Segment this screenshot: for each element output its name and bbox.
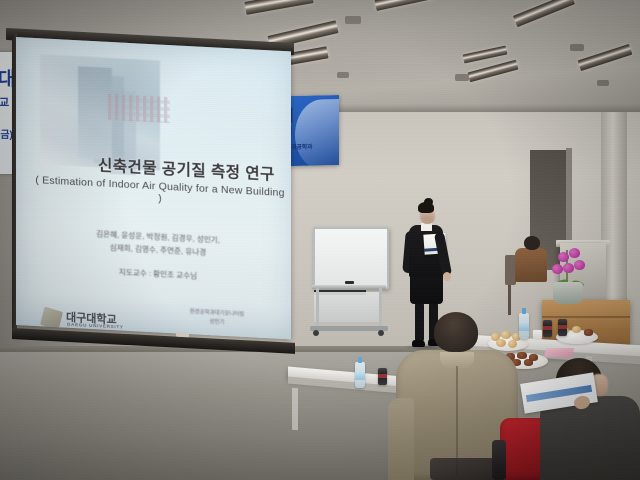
food-meat (524, 359, 533, 366)
water-bottle-label (355, 371, 365, 380)
whiteboard-caster (313, 330, 319, 336)
projection-screen: 신축건물 공기질 측정 연구 ( Estimation of Indoor Ai… (6, 28, 294, 328)
ceiling-vent (570, 44, 584, 51)
ceiling-vent (345, 16, 361, 24)
whiteboard-marker (345, 281, 354, 284)
auditorium-seat-shadow (430, 458, 500, 480)
ceiling-light (463, 46, 508, 64)
whiteboard (313, 227, 389, 289)
ceiling-light (244, 0, 313, 15)
logo-diamond-icon (40, 306, 63, 330)
slide-footnote: 환경공학과대기모니터링 성민기 (157, 306, 277, 331)
water-bottle-label (519, 322, 529, 331)
presenter-left-leg (415, 302, 424, 342)
table-leg (292, 388, 298, 430)
orchid-bloom (552, 264, 563, 274)
paper-cup (533, 330, 542, 340)
presenter-collar (421, 223, 432, 231)
whiteboard-caster (378, 330, 384, 336)
food-bread (496, 339, 506, 347)
drink-can-label (378, 374, 387, 378)
slide-mosaic-graphic (108, 94, 170, 123)
whiteboard-lower-panel (314, 292, 380, 322)
seated-person-brown-body (515, 248, 547, 282)
slide-advisor: 지도교수 : 황민조 교수님 (42, 262, 274, 285)
orchid-bloom (558, 252, 569, 262)
ceiling-light (513, 0, 575, 27)
ceiling-light (578, 44, 633, 71)
seated-person-brown-head (524, 236, 540, 250)
audience-man-arm (388, 398, 414, 480)
food-meat (517, 352, 527, 359)
food-snack-dark (584, 329, 593, 336)
food-bread (501, 331, 511, 339)
drink-can-label (558, 325, 567, 329)
drink-can-label (543, 326, 552, 330)
slide-authors: 김은혜, 윤성운, 박정원, 김경우, 성민기, 심재희, 김영수, 주연준, … (42, 224, 274, 263)
screen-pull-handle[interactable] (176, 332, 189, 338)
food-bread (508, 340, 517, 348)
whiteboard-marker-tray (312, 285, 386, 289)
orchid-bloom (569, 248, 580, 258)
chair-leg (508, 285, 511, 315)
orchid-pot (553, 282, 583, 304)
food-snack (572, 326, 581, 333)
ceiling-vent (337, 72, 349, 78)
ceiling-vent (597, 80, 609, 86)
presenter-face-blurred (421, 212, 434, 222)
ceiling-light (374, 0, 433, 11)
whiteboard-stand-left (316, 288, 319, 328)
pink-napkin (544, 348, 575, 357)
ceiling-light (468, 60, 519, 83)
whiteboard-stand-right (379, 288, 382, 328)
audience-man-head (434, 312, 478, 352)
whiteboard-base (310, 326, 388, 331)
orchid-bloom (563, 263, 574, 273)
cabinet-seam (542, 316, 630, 318)
presenter-hair-bun-icon (424, 198, 433, 206)
orchid-bloom (574, 260, 585, 270)
presentation-room-photo: 대 교 . (금) 발표회 표회 구대학교 환경공학과 신축건물 공기질 측정 … (0, 0, 640, 480)
screen-surface: 신축건물 공기질 측정 연구 ( Estimation of Indoor Ai… (16, 37, 291, 339)
ceiling-vent (455, 74, 469, 81)
presenter-left-shoe (412, 340, 425, 347)
